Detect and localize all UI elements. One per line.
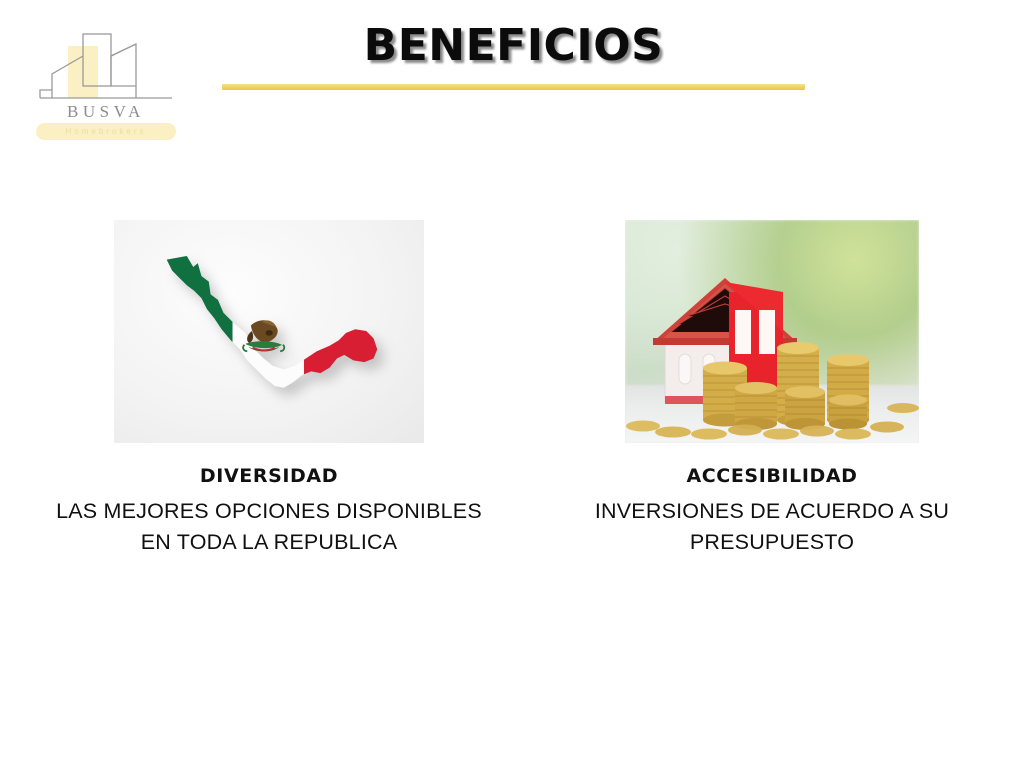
house-and-coins-photo: [625, 220, 919, 443]
benefit-description: INVERSIONES DE ACUERDO A SU PRESUPUESTO: [552, 496, 992, 558]
mexico-map-shape: [139, 245, 399, 419]
benefit-heading: DIVERSIDAD: [38, 465, 500, 487]
mexico-flag-map-photo: [114, 220, 424, 443]
buildings-line-art-icon: [26, 26, 186, 104]
benefit-description-line: PRESUPUESTO: [552, 527, 992, 558]
benefit-heading: ACCESIBILIDAD: [552, 465, 992, 487]
brand-logo: BUSVA Homebrokers: [26, 26, 186, 144]
benefit-column-diversidad: DIVERSIDAD LAS MEJORES OPCIONES DISPONIB…: [38, 220, 500, 558]
slide-canvas: BUSVA Homebrokers BENEFICIOS: [0, 0, 1024, 768]
benefit-description-line: LAS MEJORES OPCIONES DISPONIBLES: [38, 496, 500, 527]
title-underline-rule: [222, 84, 805, 90]
slide-title: BENEFICIOS: [222, 20, 805, 71]
benefit-column-accesibilidad: ACCESIBILIDAD INVERSIONES DE ACUERDO A S…: [552, 220, 992, 558]
benefit-description-line: INVERSIONES DE ACUERDO A SU: [552, 496, 992, 527]
logo-tagline: Homebrokers: [36, 123, 176, 140]
benefit-description-line: EN TODA LA REPUBLICA: [38, 527, 500, 558]
logo-tagline-band: Homebrokers: [36, 123, 176, 140]
benefit-description: LAS MEJORES OPCIONES DISPONIBLES EN TODA…: [38, 496, 500, 558]
logo-wordmark: BUSVA: [26, 102, 186, 122]
